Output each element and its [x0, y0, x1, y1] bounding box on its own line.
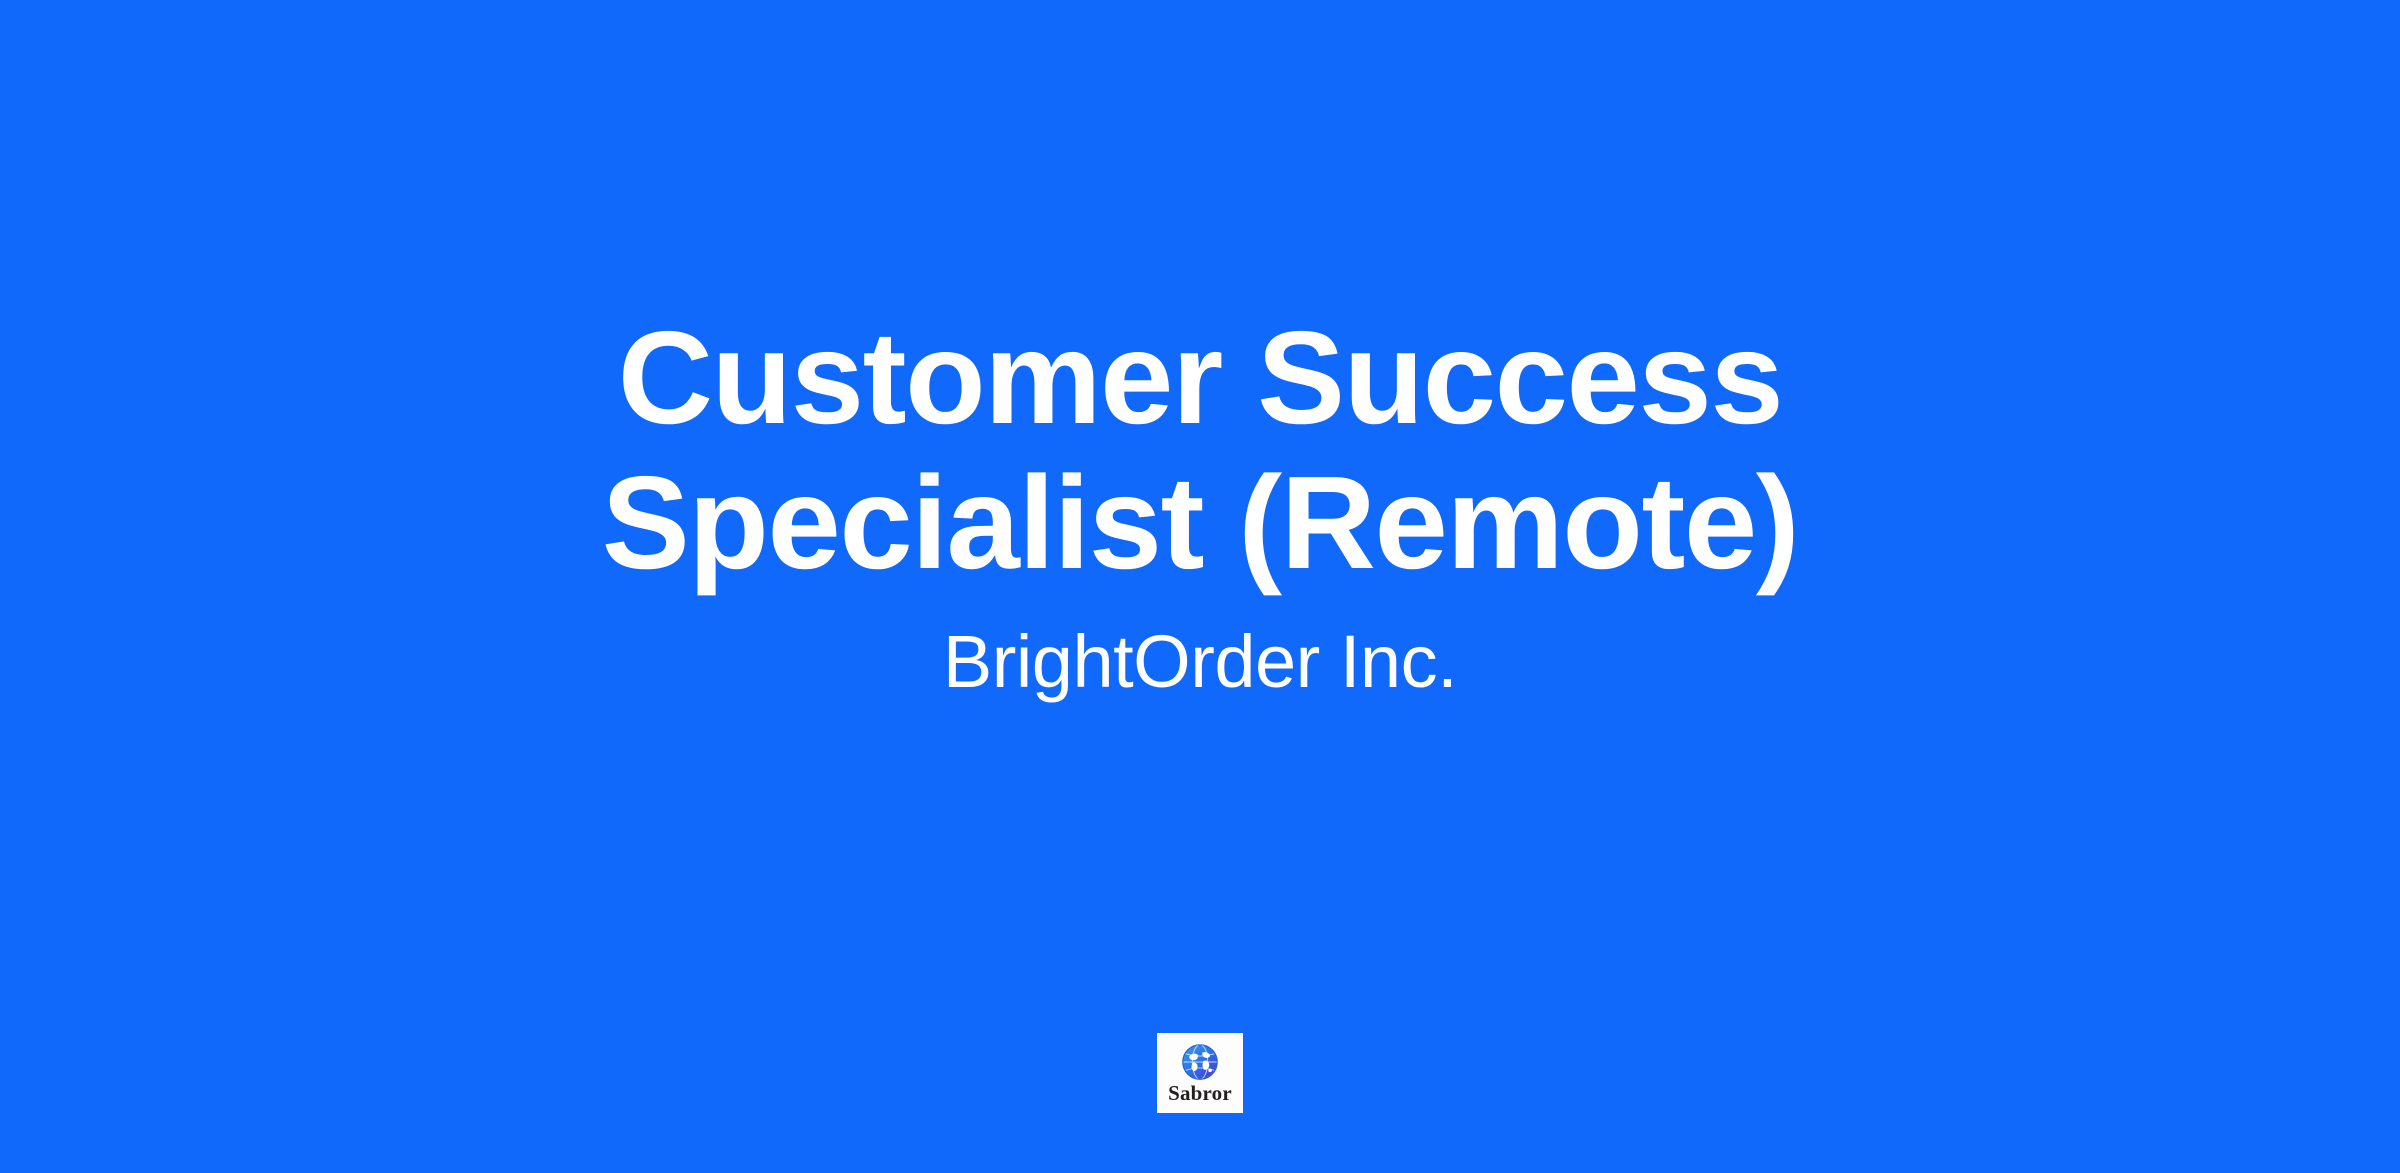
- company-name: BrightOrder Inc.: [943, 618, 1457, 705]
- brand-logo-badge: Sabror: [1157, 1033, 1243, 1113]
- page-title: Customer Success Specialist (Remote): [395, 305, 2005, 595]
- globe-icon: [1181, 1043, 1219, 1081]
- hero-section: Customer Success Specialist (Remote) Bri…: [0, 0, 2400, 1010]
- job-posting-card: Customer Success Specialist (Remote) Bri…: [0, 0, 2400, 1173]
- brand-wordmark: Sabror: [1168, 1083, 1232, 1104]
